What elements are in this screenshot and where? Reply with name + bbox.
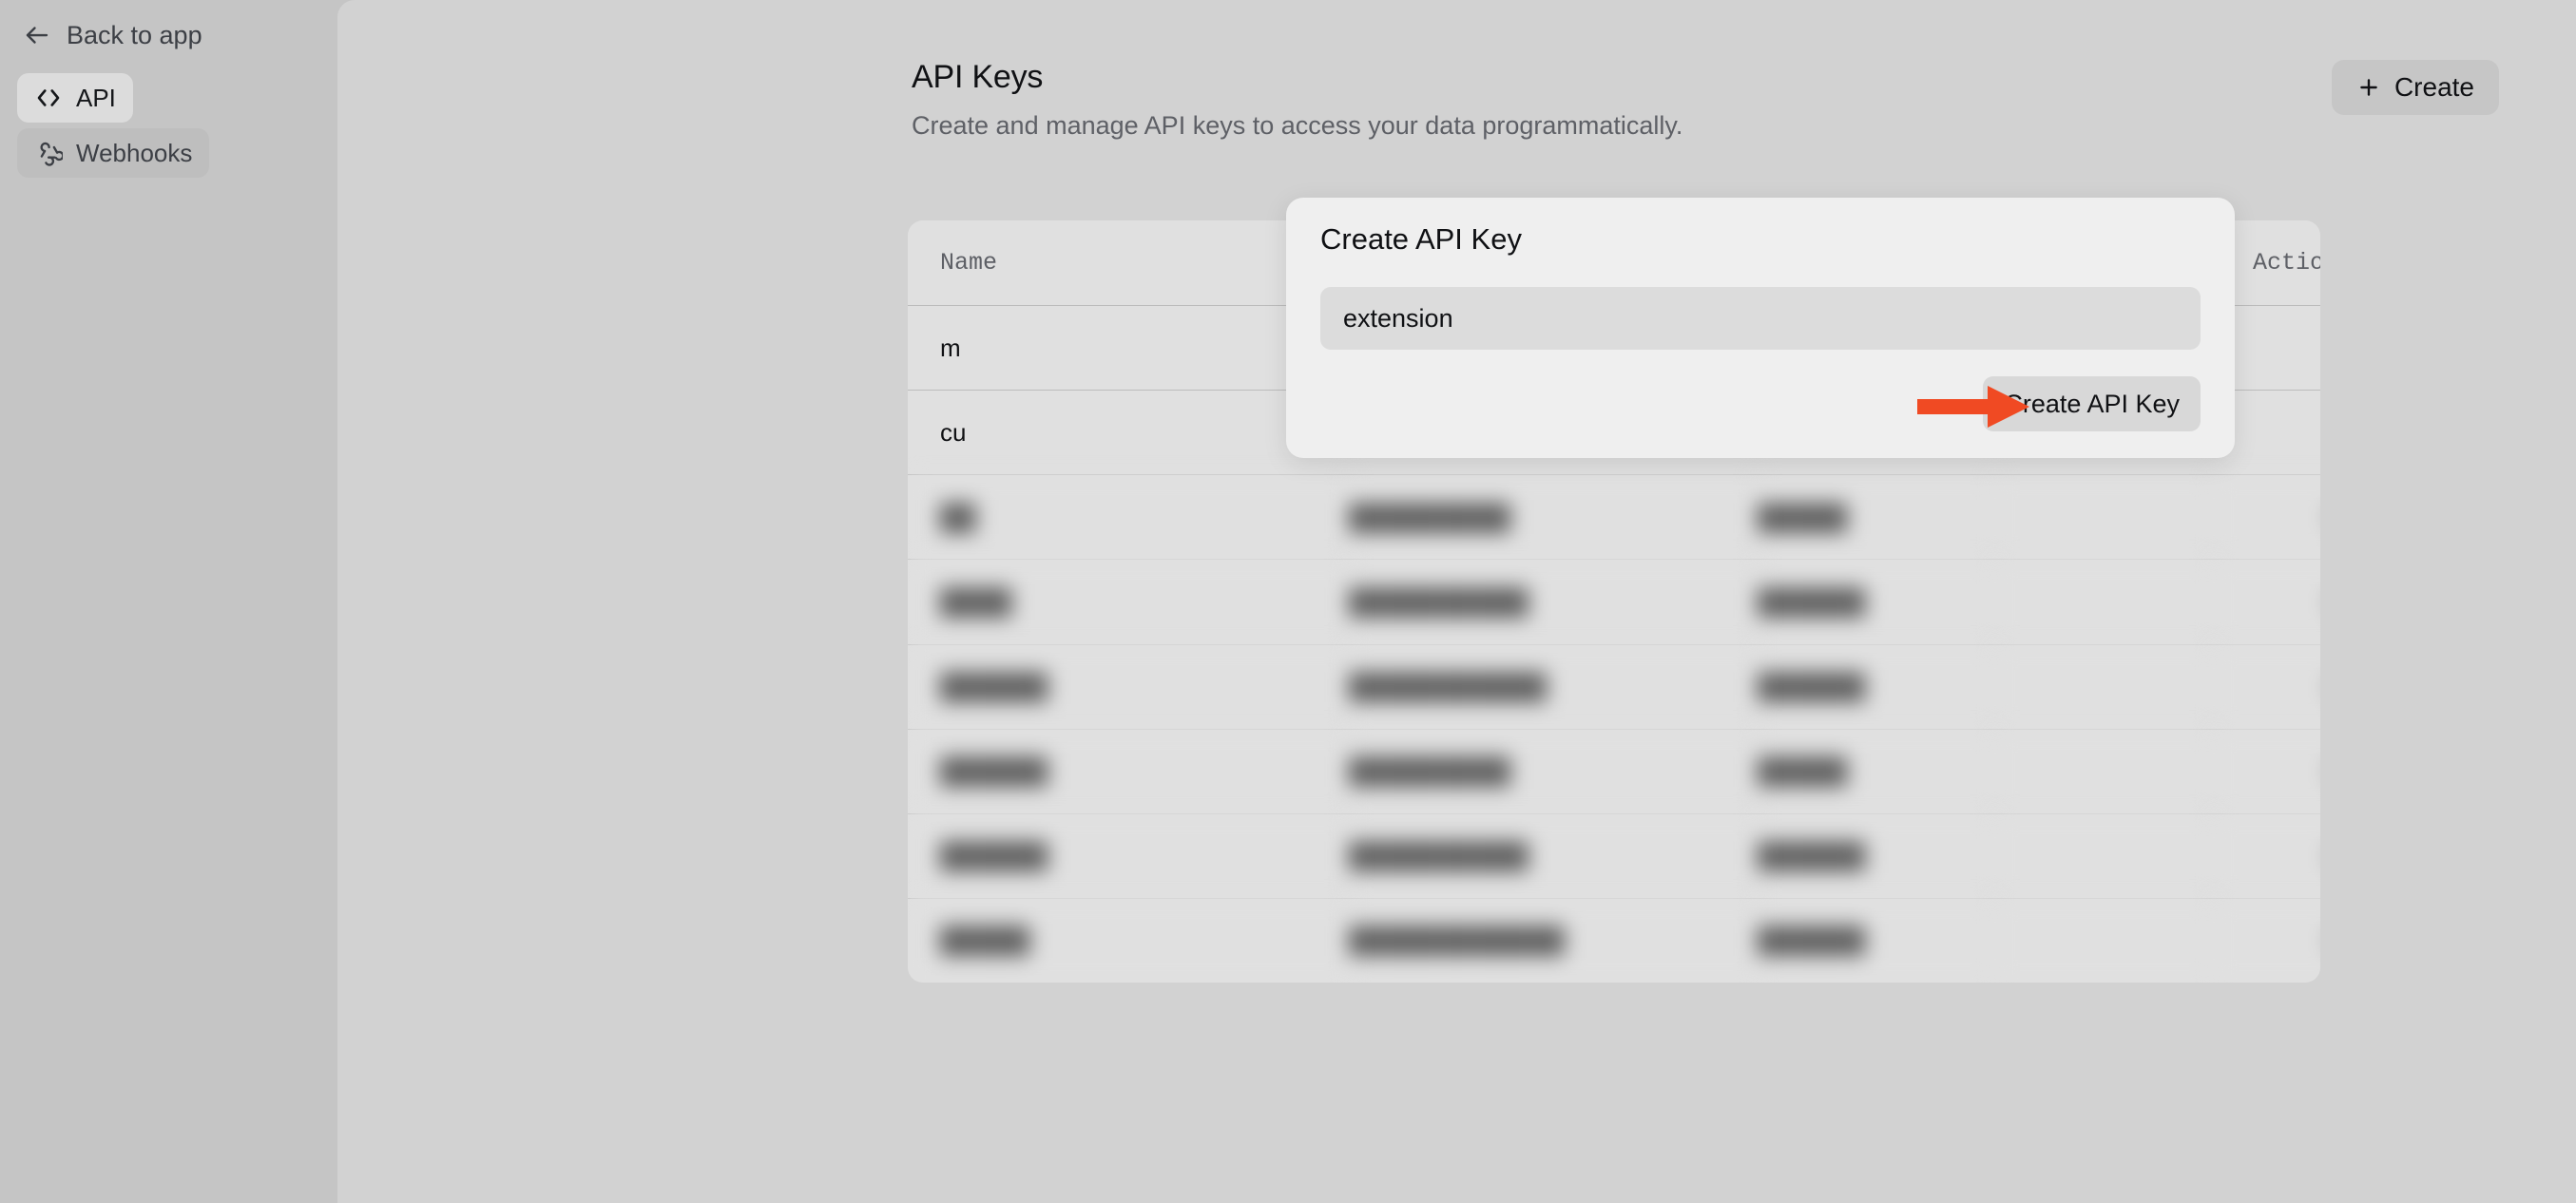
table-row[interactable]: ████████████████████ (908, 729, 2320, 813)
table-row[interactable]: ███████████████████████ (908, 644, 2320, 729)
cell-name: ████ (908, 560, 1349, 644)
sidebar-item-api[interactable]: API (17, 73, 133, 123)
cell-created: ██████ (1758, 560, 1995, 644)
back-to-app-link[interactable]: Back to app (23, 14, 337, 56)
column-header-name: Name (908, 220, 1349, 306)
cell-accessed (1995, 644, 2214, 729)
cell-name: m (908, 306, 1349, 391)
cell-name: ██████ (908, 813, 1349, 898)
code-brackets-icon (34, 84, 63, 112)
cell-name: █████ (908, 898, 1349, 983)
cell-accessed (1995, 898, 2214, 983)
modal-submit-button[interactable]: Create API Key (1983, 376, 2201, 431)
table-row[interactable]: ████████████████████ (908, 560, 2320, 644)
cell-name: ██████ (908, 644, 1349, 729)
table-row[interactable]: ████████████████ (908, 475, 2320, 560)
cell-created: █████ (1758, 729, 1995, 813)
page-header: API Keys Create and manage API keys to a… (912, 59, 2499, 141)
page-title: API Keys (912, 59, 2499, 96)
cell-created: █████ (1758, 475, 1995, 560)
main-content: API Keys Create and manage API keys to a… (337, 0, 2576, 1203)
cell-key: ████████████ (1349, 898, 1758, 983)
cell-key: ███████████ (1349, 644, 1758, 729)
webhook-icon (34, 139, 63, 167)
page-subtitle: Create and manage API keys to access you… (912, 111, 2499, 141)
cell-key: ██████████ (1349, 560, 1758, 644)
cell-accessed (1995, 729, 2214, 813)
sidebar: Back to app API Webhooks (0, 0, 337, 1203)
cell-created: ██████ (1758, 813, 1995, 898)
cell-accessed (1995, 813, 2214, 898)
table-row[interactable]: ██████████████████████ (908, 813, 2320, 898)
cell-key: █████████ (1349, 475, 1758, 560)
cell-accessed (1995, 560, 2214, 644)
app-root: Back to app API Webhooks API Keys (0, 0, 2576, 1203)
cell-name: ██ (908, 475, 1349, 560)
modal-actions: Create API Key (1320, 376, 2201, 431)
cell-name: ██████ (908, 729, 1349, 813)
table-row[interactable]: ███████████████████████ (908, 898, 2320, 983)
plus-icon (2356, 75, 2381, 100)
cell-actions[interactable] (2214, 644, 2320, 729)
create-api-key-modal: Create API Key Create API Key (1286, 198, 2235, 458)
cell-actions[interactable] (2214, 475, 2320, 560)
cell-created: ██████ (1758, 898, 1995, 983)
create-button[interactable]: Create (2332, 60, 2499, 115)
sidebar-item-api-label: API (76, 84, 116, 113)
sidebar-nav: API Webhooks (0, 73, 337, 178)
back-to-app-label: Back to app (67, 21, 202, 50)
create-button-label: Create (2394, 72, 2474, 103)
cell-actions[interactable] (2214, 813, 2320, 898)
sidebar-item-webhooks[interactable]: Webhooks (17, 128, 209, 178)
arrow-left-icon (23, 21, 51, 49)
cell-actions[interactable] (2214, 560, 2320, 644)
sidebar-item-webhooks-label: Webhooks (76, 139, 192, 168)
modal-title: Create API Key (1320, 222, 2201, 257)
cell-actions[interactable] (2214, 729, 2320, 813)
cell-created: ██████ (1758, 644, 1995, 729)
cell-key: ██████████ (1349, 813, 1758, 898)
cell-name: cu (908, 391, 1349, 475)
api-key-name-input[interactable] (1320, 287, 2201, 350)
cell-accessed (1995, 475, 2214, 560)
cell-actions[interactable] (2214, 898, 2320, 983)
cell-key: █████████ (1349, 729, 1758, 813)
